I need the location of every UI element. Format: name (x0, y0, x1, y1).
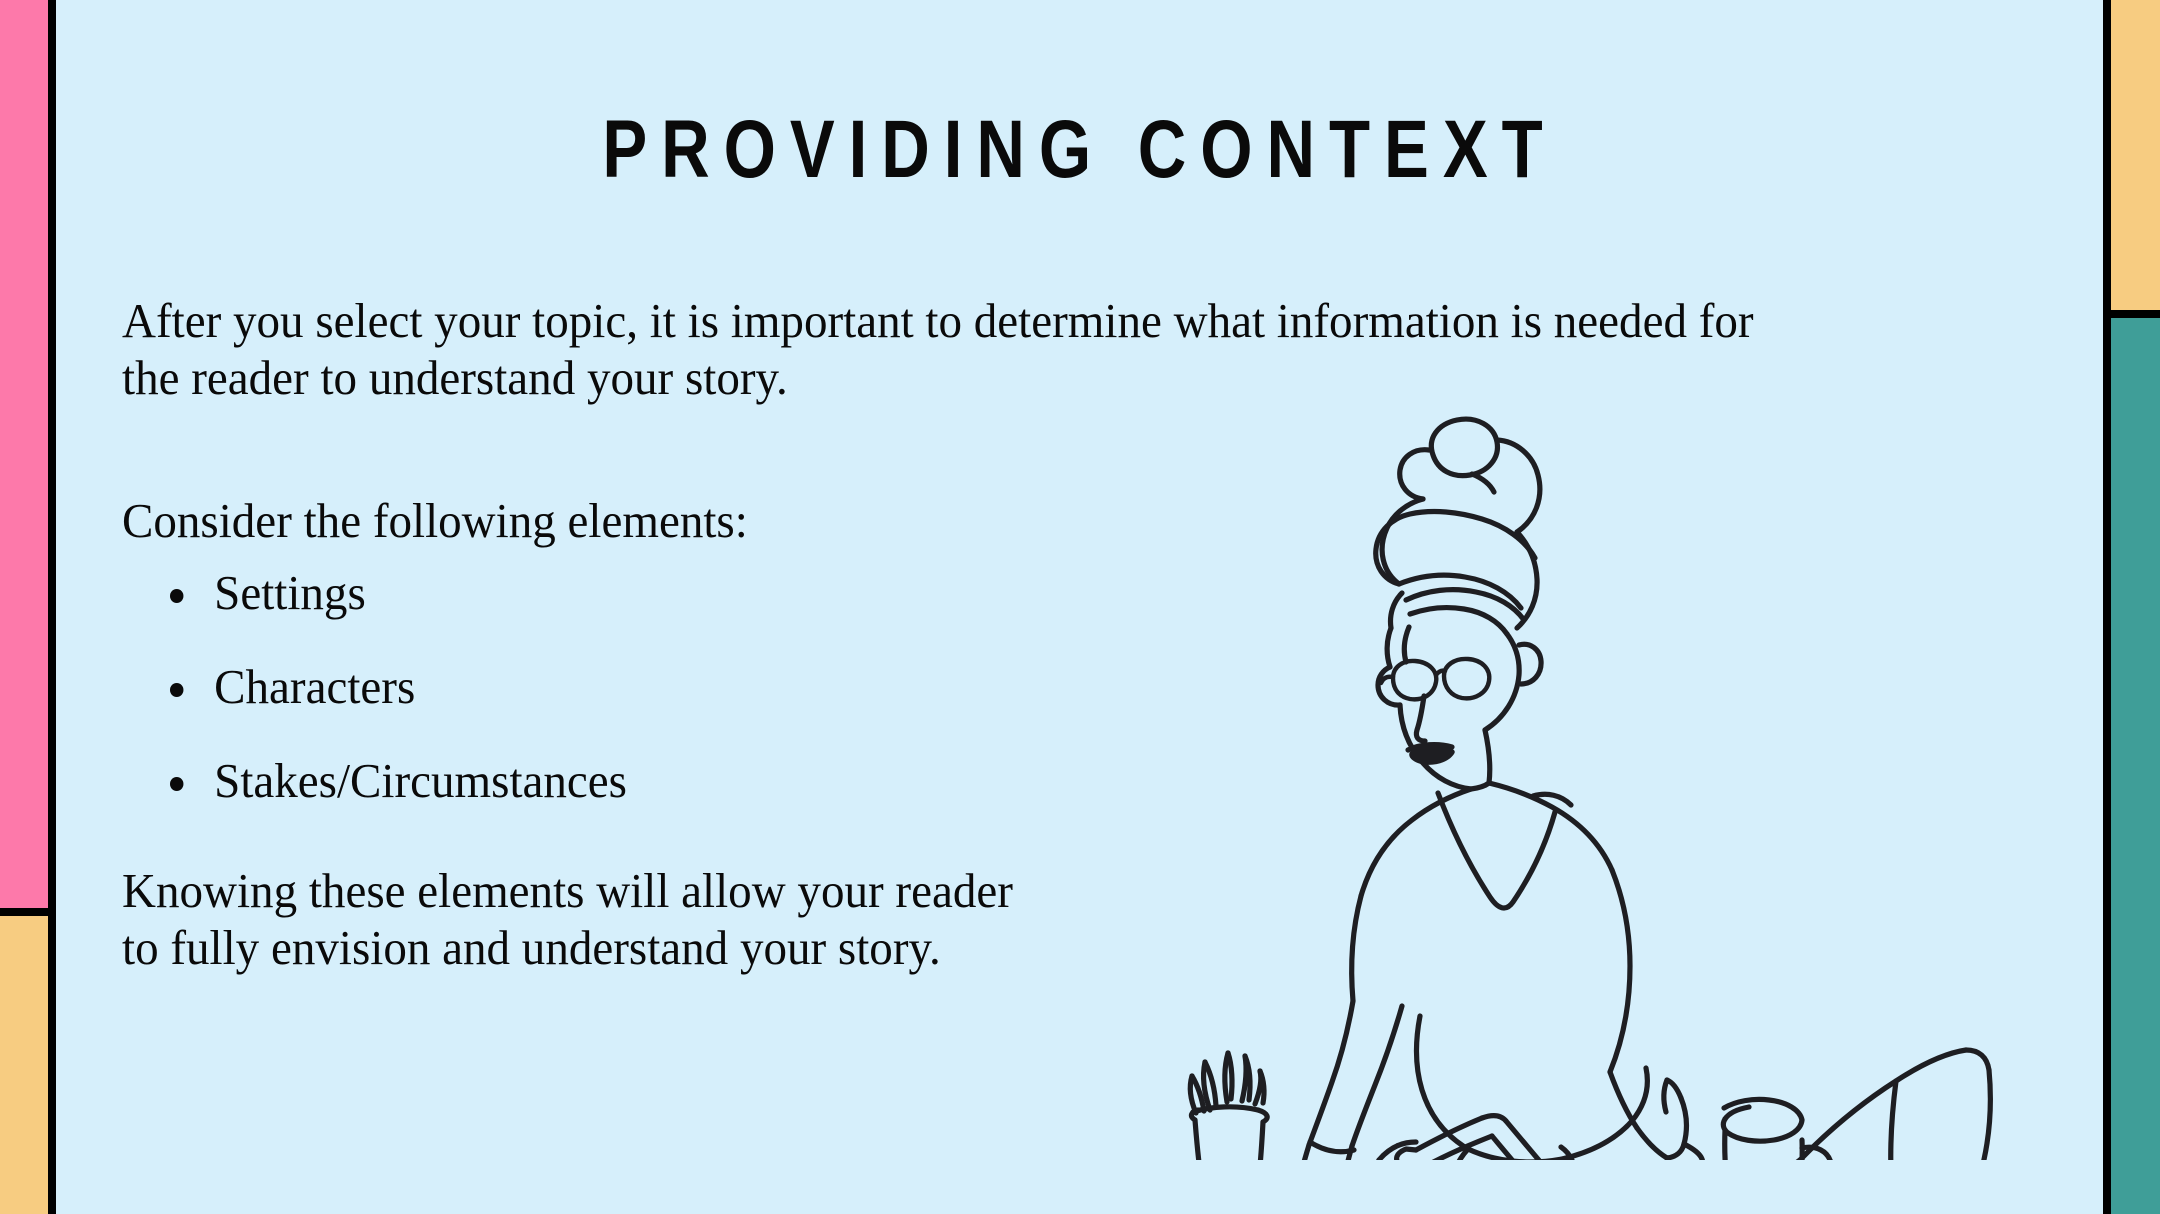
laptop (1786, 1050, 1990, 1160)
list-item-label: Characters (214, 659, 415, 714)
right-decorative-bar-group (2103, 0, 2160, 1214)
closing-paragraph: Knowing these elements will allow your r… (122, 862, 1044, 976)
right-bar-orange-segment (2111, 0, 2160, 317)
right-arm-group (1610, 1072, 1703, 1160)
consider-elements-heading: Consider the following elements: (122, 492, 1274, 549)
right-bar-divider-rule (2103, 310, 2160, 318)
line-art-svg (1180, 400, 2020, 1160)
hair-wrap-group (1376, 499, 1537, 634)
bullet-dot-icon (170, 589, 183, 603)
left-decorative-bar-group (0, 0, 56, 1214)
woman-with-laptop-line-art-illustration (1180, 400, 2020, 1160)
intro-paragraph: After you select your topic, it is impor… (122, 292, 1783, 406)
left-arm-group (1268, 1001, 1402, 1160)
slide-canvas: PROVIDING CONTEXT After you select your … (0, 0, 2160, 1214)
bullet-dot-icon (170, 777, 183, 791)
list-item: Stakes/Circumstances (122, 752, 1274, 809)
list-item-label: Settings (214, 565, 366, 620)
coffee-mug (1723, 1099, 1832, 1160)
elements-bullet-list: Settings Characters Stakes/Circumstances (122, 564, 1322, 846)
face-group (1378, 627, 1541, 789)
left-bar-orange-segment (0, 915, 48, 1214)
page-title: PROVIDING CONTEXT (240, 106, 1919, 194)
body-text-column: After you select your topic, it is impor… (122, 292, 1862, 406)
list-item: Settings (122, 564, 1274, 621)
list-item: Characters (122, 658, 1274, 715)
crossed-legs-group (1365, 1016, 1647, 1160)
right-bar-vertical-rule (2103, 0, 2111, 1214)
potted-plant (1190, 1053, 1267, 1160)
left-bar-pink-segment (0, 0, 48, 915)
list-item-label: Stakes/Circumstances (214, 753, 627, 808)
left-bar-vertical-rule (48, 0, 56, 1214)
tablet (1397, 1116, 1585, 1160)
bullet-dot-icon (170, 683, 183, 697)
right-bar-teal-segment (2111, 317, 2160, 1214)
